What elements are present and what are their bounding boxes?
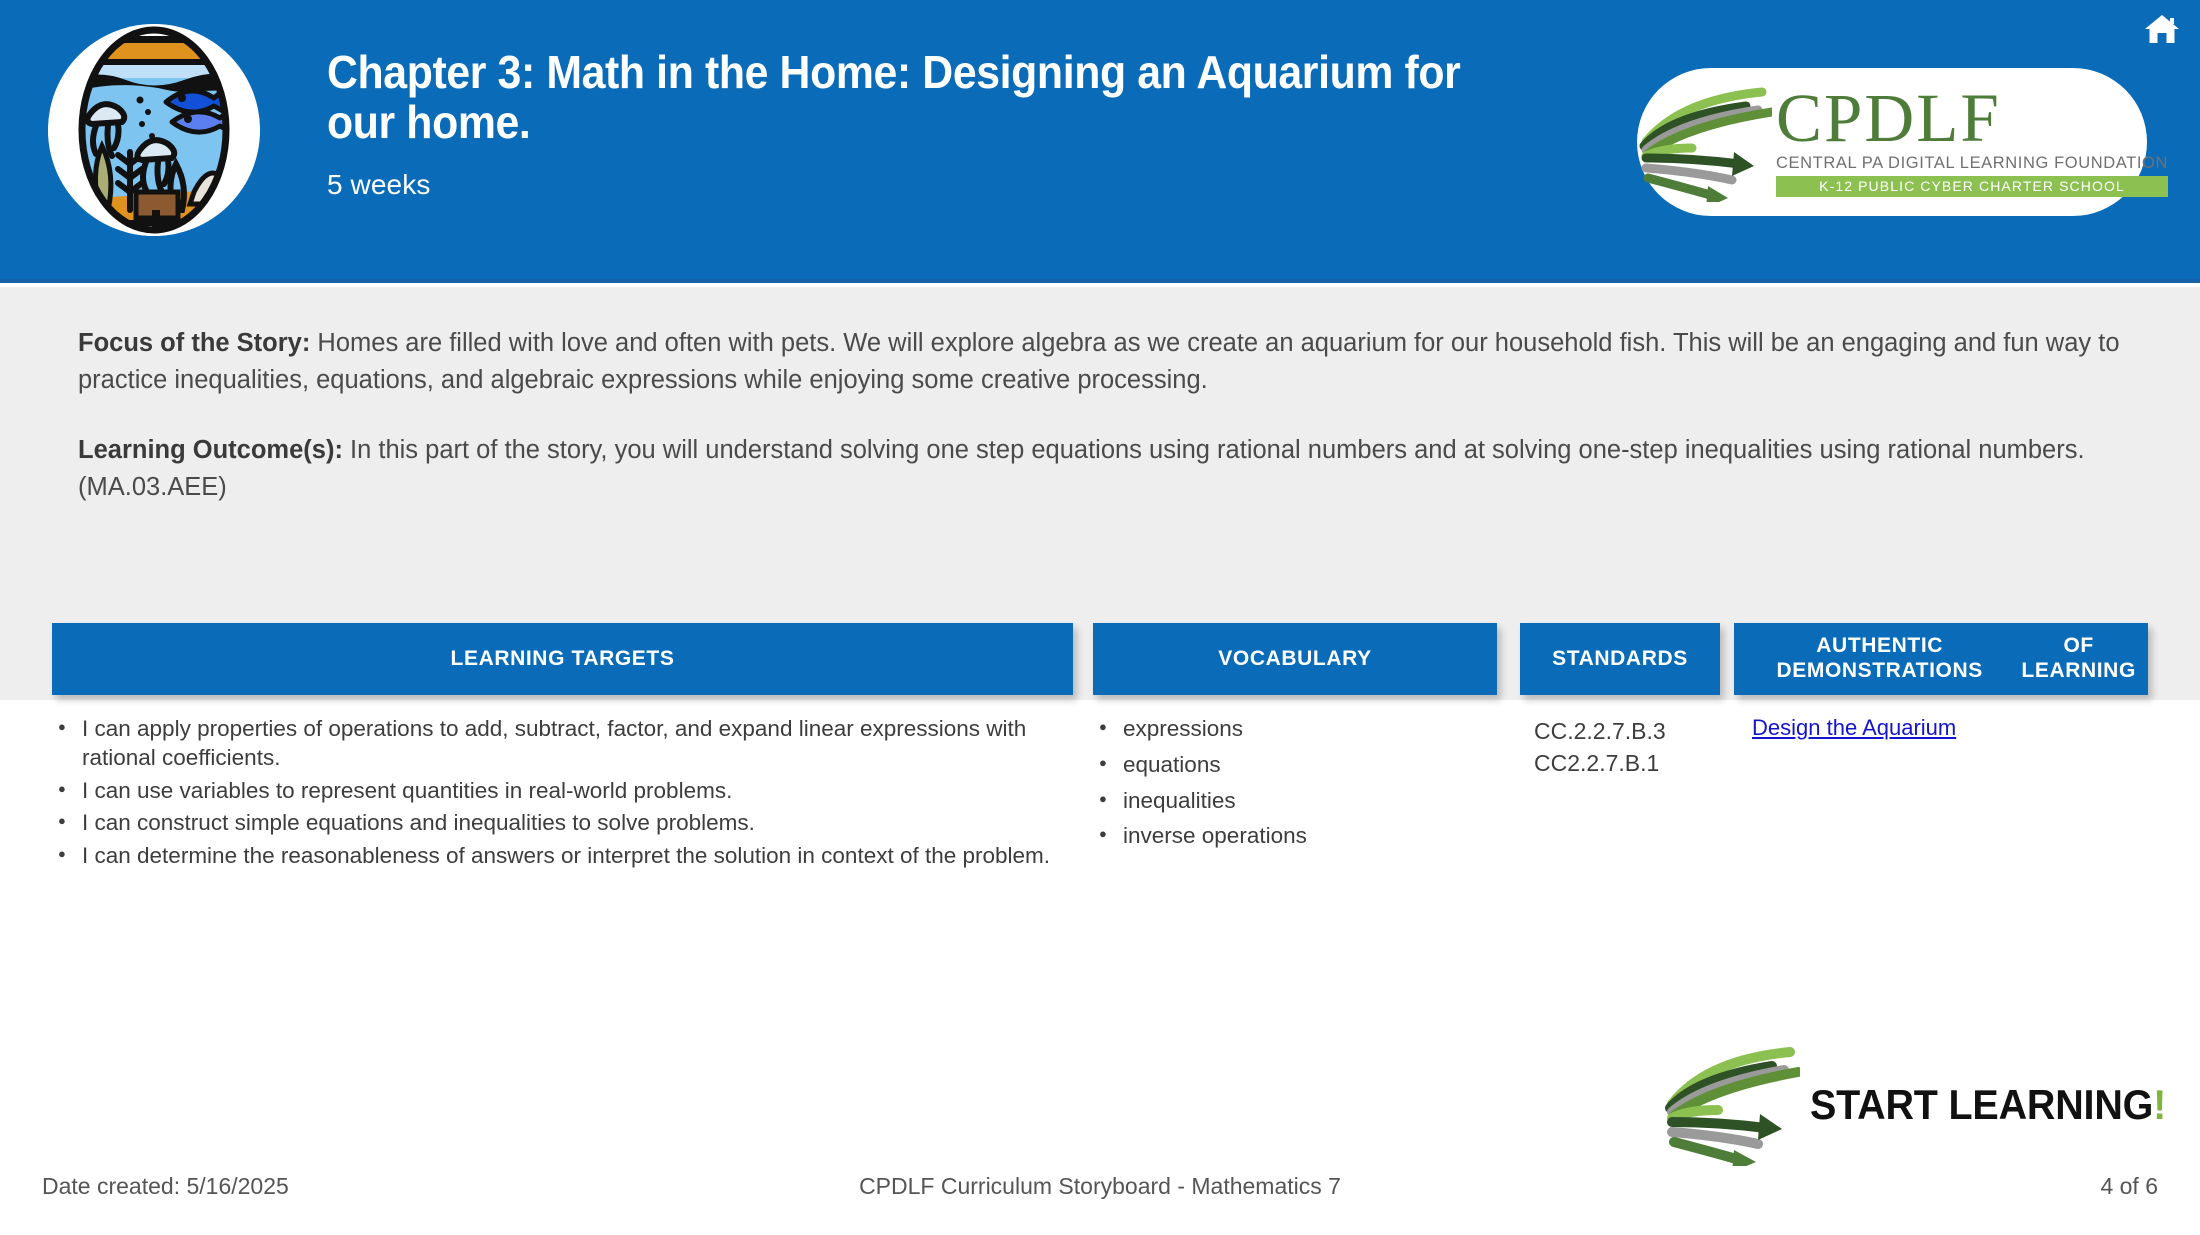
cpdlf-swoosh-icon xyxy=(1650,1044,1800,1166)
section-headers: LEARNING TARGETS VOCABULARY STANDARDS AU… xyxy=(0,623,2200,701)
list-item: inequalities xyxy=(1093,787,1497,816)
list-item: expressions xyxy=(1093,715,1497,744)
standards-column: CC.2.2.7.B.3 CC2.2.7.B.1 xyxy=(1534,715,1724,779)
list-item: I can apply properties of operations to … xyxy=(52,715,1073,773)
cpdlf-swoosh-icon xyxy=(1622,82,1772,202)
section-header-demonstrations[interactable]: AUTHENTIC DEMONSTRATIONS OF LEARNING xyxy=(1734,623,2148,695)
list-item: equations xyxy=(1093,751,1497,780)
paragraph-spacer xyxy=(78,398,2128,432)
storyboard-page: Chapter 3: Math in the Home: Designing a… xyxy=(0,0,2200,1235)
demonstrations-heading-line1: AUTHENTIC DEMONSTRATIONS xyxy=(1742,634,2017,684)
start-learning-label: START LEARNING xyxy=(1810,1081,2153,1128)
focus-paragraph: Focus of the Story: Homes are filled wit… xyxy=(78,325,2128,398)
vocabulary-column: expressions equations inequalities inver… xyxy=(1093,715,1497,858)
demonstrations-heading-line2: OF LEARNING xyxy=(2017,634,2140,684)
start-learning-text: START LEARNING! xyxy=(1810,1081,2166,1129)
list-item: I can construct simple equations and ine… xyxy=(52,809,1073,838)
page-title: Chapter 3: Math in the Home: Designing a… xyxy=(327,48,1536,147)
focus-text: Homes are filled with love and often wit… xyxy=(78,329,2120,394)
logo-subtagline: K-12 PUBLIC CYBER CHARTER SCHOOL xyxy=(1776,176,2168,197)
section-header-vocabulary[interactable]: VOCABULARY xyxy=(1093,623,1497,695)
title-block: Chapter 3: Math in the Home: Designing a… xyxy=(327,48,1627,201)
standard-code: CC2.2.7.B.1 xyxy=(1534,747,1724,779)
section-header-standards[interactable]: STANDARDS xyxy=(1520,623,1720,695)
list-item: I can use variables to represent quantit… xyxy=(52,777,1073,806)
demonstrations-column: Design the Aquarium xyxy=(1752,715,2152,741)
learning-targets-list: I can apply properties of operations to … xyxy=(52,715,1073,871)
focus-label: Focus of the Story: xyxy=(78,329,310,357)
chapter-duration: 5 weeks xyxy=(327,169,1627,201)
start-learning-exclamation: ! xyxy=(2153,1081,2166,1128)
standard-code: CC.2.2.7.B.3 xyxy=(1534,715,1724,747)
aquarium-icon xyxy=(48,24,260,236)
outcome-text: In this part of the story, you will unde… xyxy=(78,436,2085,501)
start-learning-logo: START LEARNING! xyxy=(1650,1040,2080,1170)
logo-wordmark: CPDLF xyxy=(1776,87,2001,150)
footer-document-title: CPDLF Curriculum Storyboard - Mathematic… xyxy=(0,1173,2200,1200)
outcome-label: Learning Outcome(s): xyxy=(78,436,343,464)
vocabulary-list: expressions equations inequalities inver… xyxy=(1093,715,1497,851)
learning-targets-column: I can apply properties of operations to … xyxy=(52,715,1073,875)
intro-text: Focus of the Story: Homes are filled wit… xyxy=(78,325,2128,506)
home-icon[interactable] xyxy=(2142,12,2182,46)
design-the-aquarium-link[interactable]: Design the Aquarium xyxy=(1752,715,1956,741)
list-item: I can determine the reasonableness of an… xyxy=(52,842,1073,871)
page-header: Chapter 3: Math in the Home: Designing a… xyxy=(0,0,2200,283)
page-footer: Date created: 5/16/2025 CPDLF Curriculum… xyxy=(0,1173,2200,1207)
cpdlf-logo: CPDLF CENTRAL PA DIGITAL LEARNING FOUNDA… xyxy=(1637,68,2147,216)
list-item: inverse operations xyxy=(1093,822,1497,851)
footer-page-number: 4 of 6 xyxy=(2100,1173,2158,1200)
section-header-learning-targets[interactable]: LEARNING TARGETS xyxy=(52,623,1073,695)
logo-tagline: CENTRAL PA DIGITAL LEARNING FOUNDATION xyxy=(1776,154,2168,173)
outcome-paragraph: Learning Outcome(s): In this part of the… xyxy=(78,432,2128,505)
